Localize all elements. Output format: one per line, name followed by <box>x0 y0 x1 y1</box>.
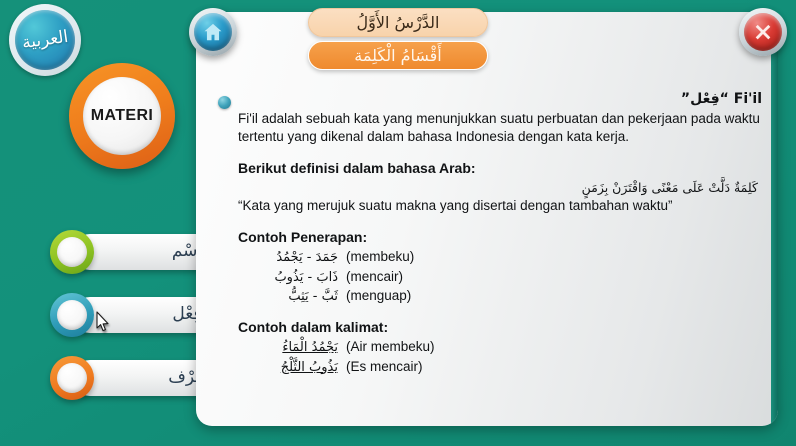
sentence-arabic: يَجْمُدُ الْمَاءُ <box>238 339 346 356</box>
sentence-arabic: يَذُوبُ الثَّلْجُ <box>238 359 346 376</box>
example-row: ثَبَّ - يَثِبُّ (menguap) <box>238 287 762 305</box>
sentence-indonesian: (Air membeku) <box>346 338 435 356</box>
contoh-kalimat-label: Contoh dalam kalimat: <box>238 318 762 337</box>
sidebar-item-harf-circle[interactable] <box>50 356 94 400</box>
lesson-subtitle-text: أَقْسَامُ الْكَلِمَة <box>354 46 442 65</box>
materi-button-label: MATERI <box>91 107 154 125</box>
logo-arabic-text: العربية <box>21 28 69 51</box>
logo-circle: العربية <box>15 10 75 70</box>
arab-definition-label: Berikut definisi dalam bahasa Arab: <box>238 159 762 178</box>
arab-definition-translation: “Kata yang merujuk suatu makna yang dise… <box>238 197 762 215</box>
close-button-face <box>744 13 782 51</box>
lesson-title-text: الدَّرْسُ الأَوَّلُ <box>357 13 440 32</box>
lesson-paragraph: Fi'il adalah sebuah kata yang menunjukka… <box>238 110 762 146</box>
example-row: جَمَدَ - يَجْمُدُ (membeku) <box>238 248 762 266</box>
content-panel: Fi'il “فِعْل” Fi'il adalah sebuah kata y… <box>196 12 778 426</box>
materi-button-face: MATERI <box>83 77 161 155</box>
example-row: ذَابَ - يَذُوبُ (mencair) <box>238 268 762 286</box>
example-arabic: جَمَدَ - يَجْمُدُ <box>238 249 346 266</box>
contoh-penerapan-label: Contoh Penerapan: <box>238 228 762 247</box>
sidebar-item-isim-circle[interactable] <box>50 230 94 274</box>
lesson-title-pill[interactable]: الدَّرْسُ الأَوَّلُ <box>308 8 488 37</box>
circle-inner <box>57 363 87 393</box>
sentence-row: يَذُوبُ الثَّلْجُ (Es mencair) <box>238 358 762 376</box>
arab-definition-text: كَلِمَةٌ دَلَّتْ عَلَى مَعْنًى وَاقْتَرَ… <box>238 180 762 197</box>
example-arabic: ثَبَّ - يَثِبُّ <box>238 288 346 305</box>
circle-inner <box>57 237 87 267</box>
example-indonesian: (mencair) <box>346 268 403 286</box>
spacer <box>238 215 762 228</box>
lesson-heading: Fi'il “فِعْل” <box>238 90 762 109</box>
close-button[interactable] <box>739 8 787 56</box>
home-button-face <box>194 13 232 51</box>
lesson-content: Fi'il “فِعْل” Fi'il adalah sebuah kata y… <box>210 90 762 416</box>
home-button[interactable] <box>189 8 237 56</box>
lesson-body: Fi'il “فِعْل” Fi'il adalah sebuah kata y… <box>238 90 762 376</box>
bullet-icon <box>218 96 231 109</box>
materi-button[interactable]: MATERI <box>69 63 175 169</box>
circle-inner <box>57 300 87 330</box>
close-x-icon <box>752 21 774 43</box>
spacer <box>238 305 762 318</box>
sentence-indonesian: (Es mencair) <box>346 358 423 376</box>
sidebar-item-fiil-circle[interactable] <box>50 293 94 337</box>
sentence-row: يَجْمُدُ الْمَاءُ (Air membeku) <box>238 338 762 356</box>
example-indonesian: (menguap) <box>346 287 411 305</box>
spacer <box>238 146 762 159</box>
app-stage: العربية MATERI إِسْم فِعْل حَرْف Fi'il <box>0 0 796 446</box>
example-indonesian: (membeku) <box>346 248 414 266</box>
example-arabic: ذَابَ - يَذُوبُ <box>238 269 346 286</box>
lesson-subtitle-pill[interactable]: أَقْسَامُ الْكَلِمَة <box>308 41 488 70</box>
app-logo: العربية <box>9 4 81 76</box>
panel-right-edge <box>771 12 778 426</box>
home-icon <box>202 21 224 43</box>
